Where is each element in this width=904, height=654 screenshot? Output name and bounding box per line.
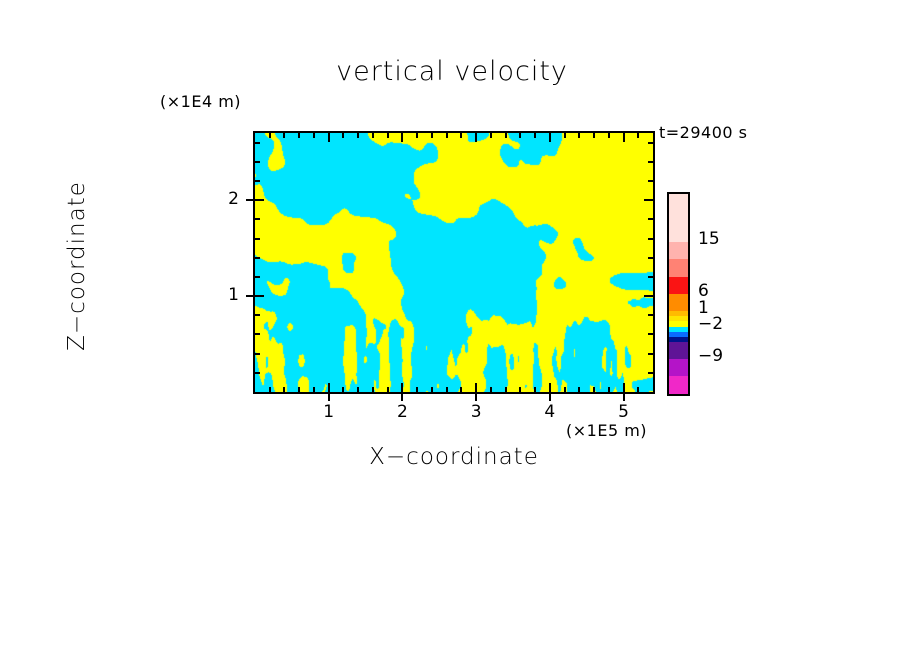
x-minor-tick-top bbox=[475, 133, 477, 142]
x-minor-tick bbox=[431, 387, 433, 392]
y-minor-tick-left bbox=[255, 353, 260, 355]
x-minor-tick-top bbox=[416, 133, 418, 138]
colorbar-band bbox=[669, 294, 688, 311]
x-minor-tick bbox=[342, 387, 344, 392]
x-minor-tick bbox=[387, 387, 389, 392]
x-tick-label: 4 bbox=[525, 402, 575, 422]
y-minor-tick-left bbox=[255, 142, 260, 144]
x-minor-tick bbox=[401, 383, 403, 392]
x-tick-mark bbox=[549, 394, 551, 401]
y-axis-unit-label: (×1E4 m) bbox=[160, 92, 241, 111]
y-minor-tick-right bbox=[648, 333, 653, 335]
y-minor-tick-right bbox=[644, 199, 653, 201]
y-minor-tick-left bbox=[255, 238, 260, 240]
colorbar bbox=[667, 192, 690, 396]
y-minor-tick-left bbox=[255, 333, 260, 335]
contour-field bbox=[255, 133, 653, 392]
x-axis-unit-label: (×1E5 m) bbox=[566, 421, 647, 440]
x-minor-tick bbox=[623, 383, 625, 392]
y-minor-tick-left bbox=[255, 218, 260, 220]
x-minor-tick bbox=[564, 387, 566, 392]
x-minor-tick-top bbox=[490, 133, 492, 138]
y-tick-mark bbox=[246, 295, 253, 297]
x-tick-mark bbox=[475, 394, 477, 401]
x-minor-tick-top bbox=[593, 133, 595, 138]
y-minor-tick-right bbox=[648, 276, 653, 278]
x-minor-tick-top bbox=[519, 133, 521, 138]
x-minor-tick bbox=[460, 387, 462, 392]
y-minor-tick-right bbox=[648, 238, 653, 240]
x-minor-tick-top bbox=[269, 133, 271, 138]
x-minor-tick bbox=[519, 387, 521, 392]
y-minor-tick-right bbox=[648, 353, 653, 355]
y-minor-tick-right bbox=[648, 161, 653, 163]
x-minor-tick bbox=[608, 387, 610, 392]
x-minor-tick-top bbox=[637, 133, 639, 138]
x-minor-tick-top bbox=[505, 133, 507, 138]
colorbar-tick-label: −9 bbox=[698, 346, 723, 366]
y-minor-tick-left bbox=[255, 295, 264, 297]
colorbar-tick-label: 15 bbox=[698, 229, 720, 249]
y-minor-tick-right bbox=[648, 314, 653, 316]
colorbar-band bbox=[669, 242, 688, 259]
y-minor-tick-left bbox=[255, 180, 260, 182]
x-minor-tick bbox=[357, 387, 359, 392]
x-minor-tick-top bbox=[460, 133, 462, 138]
x-minor-tick-top bbox=[357, 133, 359, 138]
x-minor-tick bbox=[578, 387, 580, 392]
x-minor-tick bbox=[298, 387, 300, 392]
y-tick-label: 1 bbox=[197, 285, 239, 305]
x-minor-tick bbox=[549, 383, 551, 392]
x-minor-tick-top bbox=[372, 133, 374, 138]
x-minor-tick-top bbox=[401, 133, 403, 142]
x-tick-label: 2 bbox=[377, 402, 427, 422]
x-minor-tick bbox=[490, 387, 492, 392]
x-tick-label: 5 bbox=[599, 402, 649, 422]
y-minor-tick-left bbox=[255, 257, 260, 259]
x-minor-tick-top bbox=[283, 133, 285, 138]
page-title: vertical velocity bbox=[0, 56, 904, 87]
x-minor-tick bbox=[328, 383, 330, 392]
colorbar-band bbox=[669, 342, 688, 359]
x-minor-tick-top bbox=[608, 133, 610, 138]
x-minor-tick-top bbox=[446, 133, 448, 138]
x-tick-label: 1 bbox=[304, 402, 354, 422]
x-minor-tick-top bbox=[342, 133, 344, 138]
x-minor-tick bbox=[593, 387, 595, 392]
y-minor-tick-left bbox=[255, 161, 260, 163]
plot-area bbox=[253, 131, 655, 394]
y-minor-tick-right bbox=[648, 180, 653, 182]
colorbar-band bbox=[669, 376, 688, 393]
x-minor-tick-top bbox=[564, 133, 566, 138]
x-minor-tick-top bbox=[549, 133, 551, 142]
x-minor-tick-top bbox=[328, 133, 330, 142]
y-minor-tick-left bbox=[255, 314, 260, 316]
x-minor-tick bbox=[446, 387, 448, 392]
x-minor-tick bbox=[534, 387, 536, 392]
colorbar-tick-label: −2 bbox=[698, 314, 723, 334]
x-minor-tick-top bbox=[578, 133, 580, 138]
x-minor-tick-top bbox=[534, 133, 536, 138]
x-minor-tick bbox=[269, 387, 271, 392]
x-tick-label: 3 bbox=[451, 402, 501, 422]
x-minor-tick-top bbox=[387, 133, 389, 138]
y-minor-tick-left bbox=[255, 199, 264, 201]
y-tick-label: 2 bbox=[197, 189, 239, 209]
y-minor-tick-right bbox=[648, 218, 653, 220]
y-minor-tick-right bbox=[648, 257, 653, 259]
colorbar-band bbox=[669, 259, 688, 276]
x-tick-mark bbox=[623, 394, 625, 401]
x-minor-tick bbox=[475, 383, 477, 392]
x-minor-tick-top bbox=[298, 133, 300, 138]
x-minor-tick bbox=[416, 387, 418, 392]
x-minor-tick bbox=[505, 387, 507, 392]
y-minor-tick-left bbox=[255, 372, 260, 374]
x-minor-tick bbox=[283, 387, 285, 392]
x-minor-tick bbox=[372, 387, 374, 392]
colorbar-band bbox=[669, 277, 688, 294]
y-minor-tick-right bbox=[648, 142, 653, 144]
x-axis-title: X−coordinate bbox=[253, 444, 655, 470]
colorbar-band bbox=[669, 359, 688, 376]
y-axis-title: Z−coordinate bbox=[64, 126, 90, 406]
time-annotation: t=29400 s bbox=[659, 123, 748, 142]
x-tick-mark bbox=[401, 394, 403, 401]
x-tick-mark bbox=[328, 394, 330, 401]
x-minor-tick bbox=[313, 387, 315, 392]
x-minor-tick-top bbox=[313, 133, 315, 138]
y-minor-tick-left bbox=[255, 276, 260, 278]
y-tick-mark bbox=[246, 199, 253, 201]
x-minor-tick-top bbox=[623, 133, 625, 142]
x-minor-tick bbox=[637, 387, 639, 392]
x-minor-tick-top bbox=[431, 133, 433, 138]
y-minor-tick-right bbox=[648, 372, 653, 374]
colorbar-band bbox=[669, 194, 688, 242]
y-minor-tick-right bbox=[644, 295, 653, 297]
